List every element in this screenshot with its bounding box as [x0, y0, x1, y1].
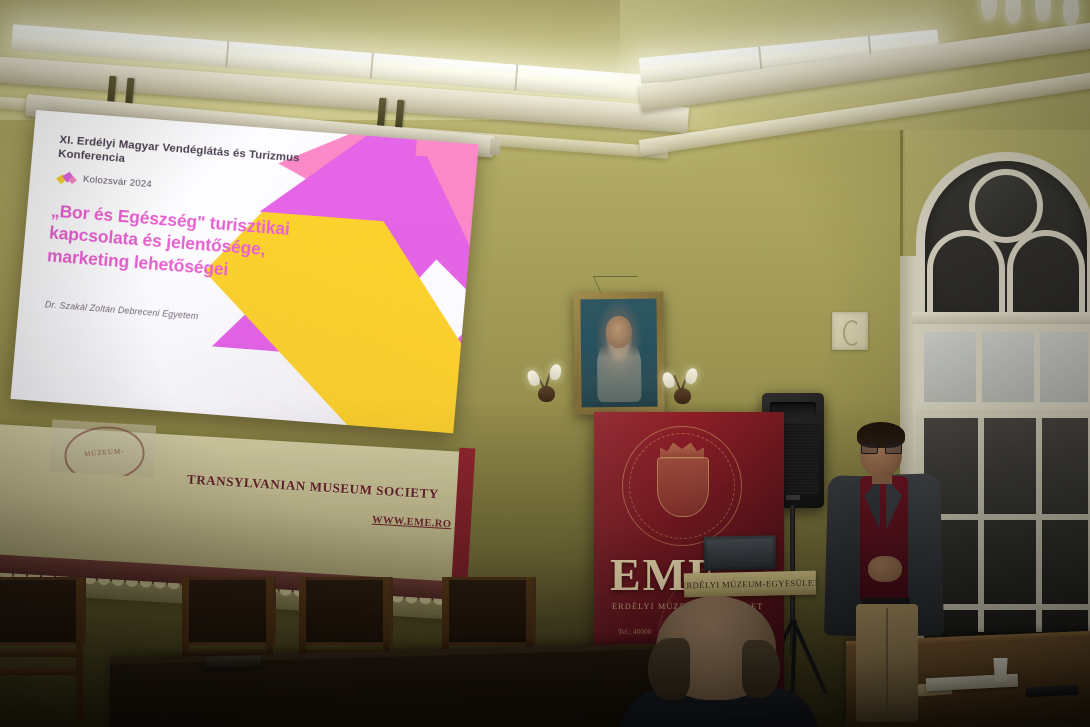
framed-portrait-painting — [573, 292, 664, 415]
conference-brandmark-icon — [56, 171, 78, 186]
wall-sconce-lamp — [524, 362, 570, 406]
slide-logo-row: Kolozsvár 2024 — [56, 171, 153, 191]
pendant-lamp — [975, 0, 1090, 26]
eyeglasses-icon — [861, 443, 902, 452]
presenter-laptop — [704, 535, 777, 570]
conference-room-photo: XI. Erdélyi Magyar Vendéglátás és Turizm… — [0, 0, 1090, 727]
crest-label: MÚZEUM-EGYESÜLET — [62, 423, 146, 477]
portrait-head — [606, 316, 632, 348]
window-lobe-tracery — [1007, 230, 1085, 320]
portrait-canvas — [580, 299, 657, 408]
speaker-badge — [786, 495, 800, 500]
eme-seal-icon — [622, 426, 742, 546]
standing-presenter — [820, 424, 950, 727]
table-object — [205, 655, 261, 669]
audience-hair — [742, 640, 780, 698]
museum-crest-icon: MÚZEUM-EGYESÜLET — [49, 419, 156, 477]
audience-hair — [648, 638, 690, 700]
window-transom-sill — [912, 312, 1090, 324]
window-middle-pane-row — [916, 324, 1090, 410]
window-lobe-tracery — [927, 230, 1005, 320]
window-arch-head — [916, 152, 1090, 320]
wall-sconce-lamp — [660, 364, 706, 408]
eme-shield-icon — [657, 457, 709, 517]
presenter-hands — [868, 556, 902, 582]
society-name: TRANSYLVANIAN MUSEUM SOCIETY — [187, 472, 440, 503]
society-website: WWW.EME.RO — [372, 515, 452, 531]
laptop-screen — [707, 538, 773, 567]
wall-relief-plaque — [832, 312, 868, 350]
projection-screen-assembly: XI. Erdélyi Magyar Vendéglátás és Turizm… — [18, 92, 488, 442]
slide-city-year: Kolozsvár 2024 — [83, 174, 153, 190]
chair — [0, 577, 86, 727]
projected-slide: XI. Erdélyi Magyar Vendéglátás és Turizm… — [10, 110, 478, 433]
lectern-name-sign: ERDÉLYI MÚZEUM-EGYESÜLET — [684, 571, 816, 598]
seated-audience-member — [630, 596, 810, 727]
